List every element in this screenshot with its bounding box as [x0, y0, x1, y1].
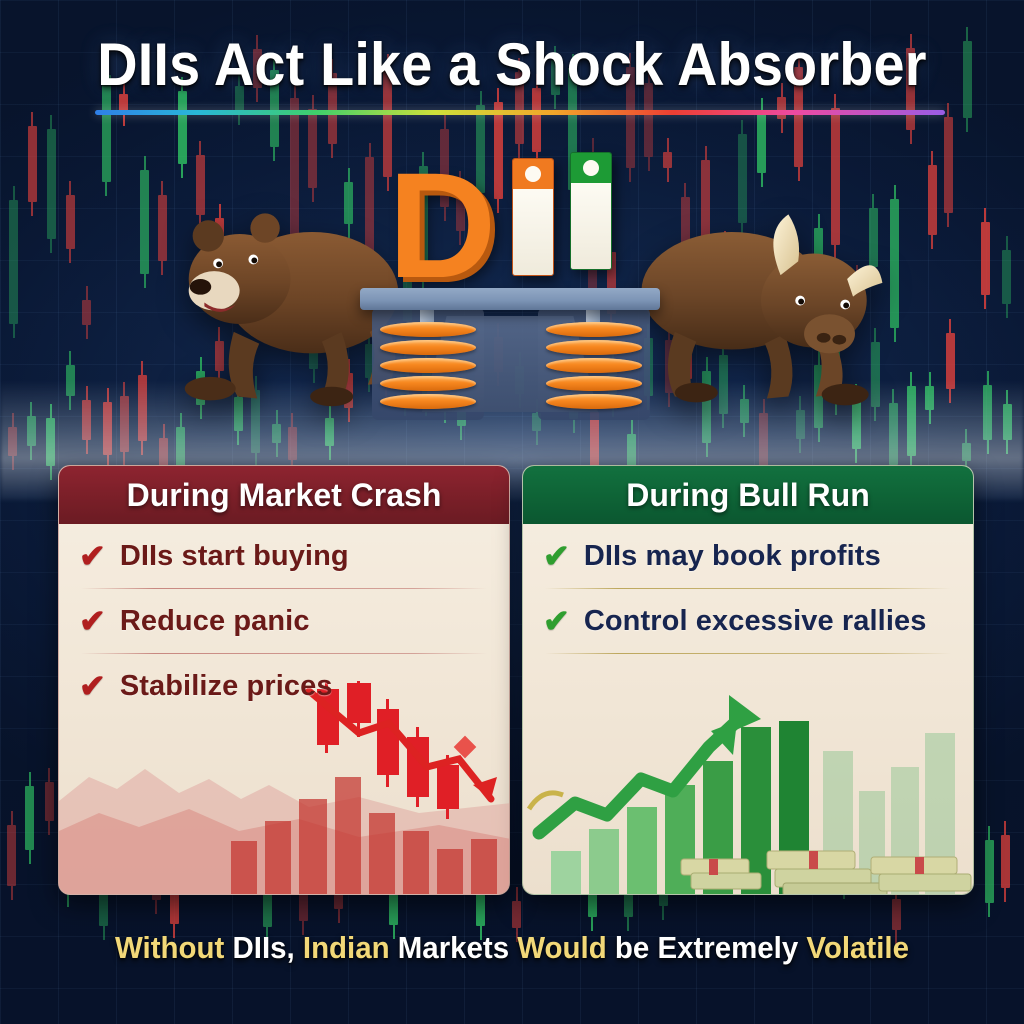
panel-market-crash: During Market Crash — [58, 465, 510, 895]
list-item: ✔ Stabilize prices — [59, 654, 509, 718]
check-icon: ✔ — [79, 670, 106, 702]
footer-caption: Without DIIs, Indian Markets Would be Ex… — [26, 930, 999, 966]
shock-absorber-spring-right — [546, 322, 642, 412]
cap-dot — [583, 160, 599, 176]
list-item: ✔ DIIs start buying — [59, 524, 509, 588]
green-capped-bar — [570, 152, 612, 270]
check-icon: ✔ — [543, 605, 570, 637]
check-icon: ✔ — [79, 605, 106, 637]
list-item-label: Reduce panic — [120, 605, 310, 638]
footer-word: Markets — [398, 930, 518, 965]
footer-word: Would — [517, 930, 615, 965]
divider — [545, 653, 951, 654]
spring-coil — [546, 394, 642, 409]
list-item-label: Stabilize prices — [120, 670, 333, 703]
footer-word: be — [615, 930, 658, 965]
list-item-label: Control excessive rallies — [584, 605, 927, 638]
orange-capped-bar — [512, 158, 554, 276]
rainbow-underline — [95, 110, 945, 115]
panel-header-market-crash: During Market Crash — [59, 466, 509, 524]
green-cap — [571, 153, 611, 183]
orange-cap — [513, 159, 553, 189]
list-item-label: DIIs may book profits — [584, 540, 881, 573]
spring-coil — [380, 340, 476, 355]
infographic-poster: DIIs Act Like a Shock Absorber — [0, 0, 1024, 1024]
title-block: DIIs Act Like a Shock Absorber — [0, 30, 1024, 99]
page-title: DIIs Act Like a Shock Absorber — [97, 30, 926, 99]
footer-word: Volatile — [806, 930, 909, 965]
panel-body-bull-run: ✔ DIIs may book profits ✔ Control excess… — [523, 524, 973, 895]
panel-header-bull-run: During Bull Run — [523, 466, 973, 524]
spring-coil — [380, 376, 476, 391]
check-icon: ✔ — [79, 540, 106, 572]
dii-shock-absorber-graphic: D — [360, 140, 660, 420]
bar-body — [571, 183, 611, 270]
shock-absorber-spring-left — [380, 322, 476, 412]
footer-word: Extremely — [657, 930, 806, 965]
spring-coil — [546, 358, 642, 373]
seesaw-platform — [360, 288, 660, 310]
letter-d: D — [388, 150, 496, 300]
bar-body — [513, 189, 553, 276]
spring-coil — [546, 322, 642, 337]
spring-coil — [380, 358, 476, 373]
spring-coil — [380, 394, 476, 409]
panel-body-market-crash: ✔ DIIs start buying ✔ Reduce panic ✔ Sta… — [59, 524, 509, 895]
list-item: ✔ DIIs may book profits — [523, 524, 973, 588]
footer-word: Without — [115, 930, 232, 965]
spring-coil — [546, 340, 642, 355]
check-icon: ✔ — [543, 540, 570, 572]
spring-coil — [380, 322, 476, 337]
list-item: ✔ Control excessive rallies — [523, 589, 973, 653]
panel-bull-run: During Bull Run — [522, 465, 974, 895]
footer-word: Indian — [303, 930, 398, 965]
bull-chart-art — [523, 681, 974, 895]
bull-illustration — [635, 185, 885, 420]
list-item-label: DIIs start buying — [120, 540, 349, 573]
spring-coil — [546, 376, 642, 391]
list-item: ✔ Reduce panic — [59, 589, 509, 653]
cap-dot — [525, 166, 541, 182]
footer-word: DIIs, — [232, 930, 302, 965]
